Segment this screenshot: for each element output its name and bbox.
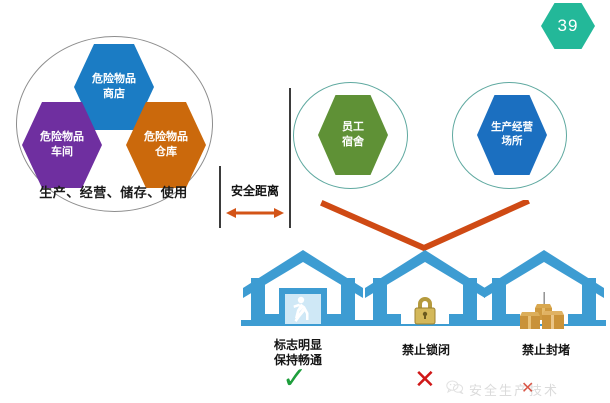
wechat-icon bbox=[446, 380, 464, 399]
v-arrow-down-icon bbox=[320, 200, 530, 252]
double-arrow-horizontal-icon bbox=[226, 206, 284, 220]
page-number-label: 39 bbox=[558, 16, 579, 36]
cross-mark-icon: ✕ bbox=[414, 366, 436, 392]
hexagon-workplace-line2: 场所 bbox=[502, 135, 523, 149]
exit-sign-text-3: 安全出口 bbox=[482, 272, 606, 284]
hexagon-workshop-line2: 车间 bbox=[51, 145, 73, 160]
hexagon-store-line2: 商店 bbox=[103, 87, 125, 102]
caption-blocked-exit: 禁止封堵 bbox=[484, 343, 608, 358]
exit-house-blocked bbox=[482, 248, 606, 336]
watermark: 安全生产技术 bbox=[446, 379, 559, 399]
check-mark-icon: ✓ bbox=[282, 364, 307, 394]
caption-locked-exit: 禁止锁闭 bbox=[364, 343, 488, 358]
watermark-text: 安全生产技术 bbox=[469, 380, 559, 399]
exit-sign-text-2: 安全出口 bbox=[363, 272, 487, 284]
divider-right bbox=[289, 88, 291, 228]
hexagon-workplace-line1: 生产经营 bbox=[491, 121, 533, 135]
hexagon-workshop-line1: 危险物品 bbox=[40, 130, 84, 145]
hexagon-dormitory-line2: 宿舍 bbox=[342, 135, 364, 150]
hazardous-activities-caption: 生产、经营、储存、使用 bbox=[16, 182, 211, 201]
hexagon-dormitory-line1: 员工 bbox=[342, 120, 364, 135]
exit-sign-text-1: 安全出口 bbox=[241, 272, 365, 284]
hexagon-store-line1: 危险物品 bbox=[92, 72, 136, 87]
exit-house-clear bbox=[241, 248, 365, 336]
page-number-badge: 39 bbox=[541, 3, 595, 49]
hexagon-warehouse-line2: 仓库 bbox=[155, 145, 177, 160]
slide-canvas: 39 危险物品 商店 危险物品 车间 危险物品 仓库 生产、经营、储存、使用 安… bbox=[0, 0, 610, 403]
hexagon-warehouse-line1: 危险物品 bbox=[144, 130, 188, 145]
caption-clear-exit-line1: 标志明显 bbox=[236, 338, 360, 353]
exit-house-locked bbox=[363, 248, 487, 336]
safety-distance-label: 安全距离 bbox=[220, 182, 290, 199]
watermark-overlay-cross-icon: ✕ bbox=[521, 378, 534, 398]
